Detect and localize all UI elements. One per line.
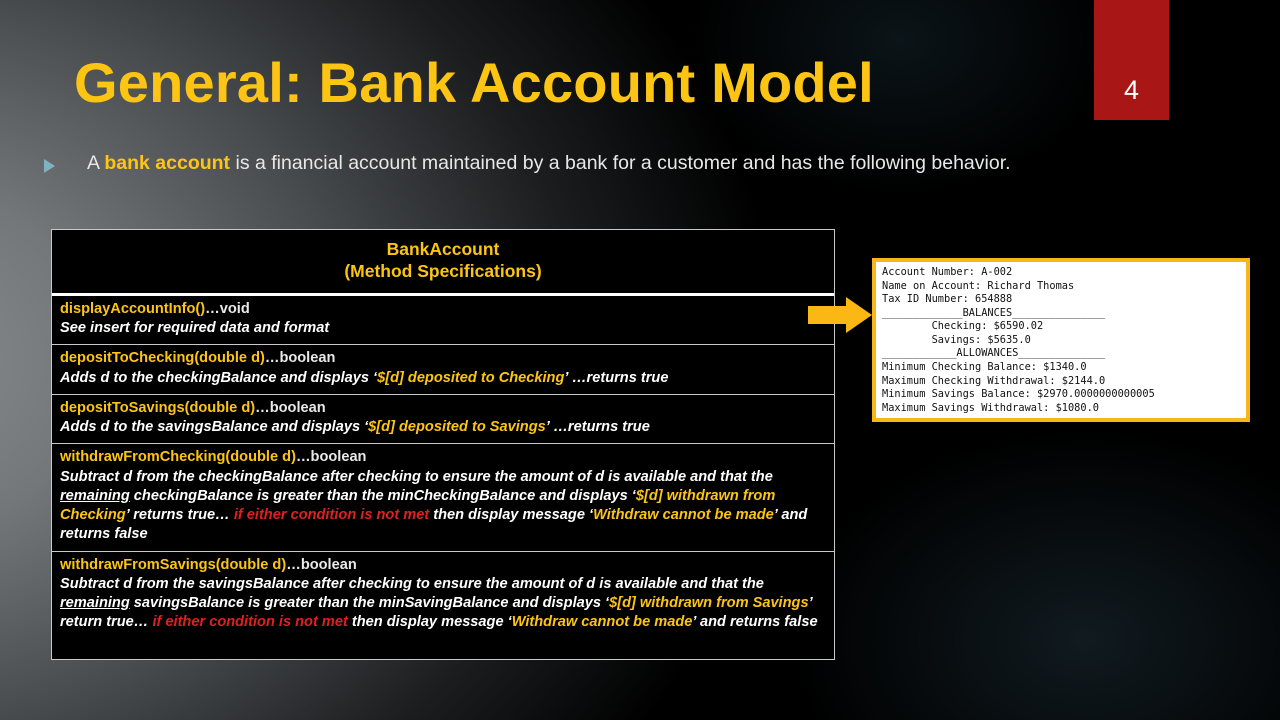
method-description: Adds d to the savingsBalance and display… xyxy=(60,418,826,437)
description-segment: if either condition is not met xyxy=(234,507,429,523)
method-description: Subtract d from the checkingBalance afte… xyxy=(60,468,826,545)
table-body: displayAccountInfo()…voidSee insert for … xyxy=(52,296,834,659)
table-header: BankAccount (Method Specifications) xyxy=(52,230,834,296)
description-segment: $[d] deposited to Checking xyxy=(377,370,564,386)
description-segment: savingsBalance is greater than the minSa… xyxy=(130,595,609,611)
description-segment: remaining xyxy=(60,488,130,504)
arrow-right-icon xyxy=(808,297,872,333)
triangle-right-bullet-icon xyxy=(44,159,55,173)
table-row: withdrawFromChecking(double d)…booleanSu… xyxy=(52,444,834,551)
description-segment: ’ …returns true xyxy=(546,419,650,435)
page-title: General: Bank Account Model xyxy=(74,50,874,115)
intro-bullet-text: A bank account is a financial account ma… xyxy=(87,152,1011,175)
description-segment: $[d] deposited to Savings xyxy=(368,419,546,435)
description-segment: checkingBalance is greater than the minC… xyxy=(130,488,636,504)
method-signature: displayAccountInfo()…void xyxy=(60,300,826,319)
description-segment: ’ …returns true xyxy=(564,370,668,386)
slide-number-badge: 4 xyxy=(1094,0,1169,120)
slide-number: 4 xyxy=(1094,75,1169,106)
method-return-type: …boolean xyxy=(265,350,336,366)
method-return-type: …void xyxy=(205,301,250,317)
table-header-line2: (Method Specifications) xyxy=(58,260,828,282)
slide-canvas: General: Bank Account Model 4 A bank acc… xyxy=(0,0,1280,720)
table-header-line1: BankAccount xyxy=(58,238,828,260)
intro-prefix: A xyxy=(87,152,104,174)
method-return-type: …boolean xyxy=(296,449,367,465)
arrow-shaft xyxy=(808,306,848,324)
method-description: Subtract d from the savingsBalance after… xyxy=(60,575,826,633)
method-return-type: …boolean xyxy=(286,557,357,573)
table-row: displayAccountInfo()…voidSee insert for … xyxy=(52,296,834,346)
console-output-text: Account Number: A-002 Name on Account: R… xyxy=(882,266,1240,422)
method-name: displayAccountInfo() xyxy=(60,301,205,317)
description-segment: if either condition is not met xyxy=(152,614,347,630)
description-segment: Adds d to the savingsBalance and display… xyxy=(60,419,368,435)
description-segment: ’ returns true… xyxy=(126,507,234,523)
intro-bullet: A bank account is a financial account ma… xyxy=(44,152,1224,175)
method-signature: depositToChecking(double d)…boolean xyxy=(60,349,826,368)
method-description: See insert for required data and format xyxy=(60,319,826,338)
table-row: depositToSavings(double d)…booleanAdds d… xyxy=(52,395,834,445)
method-signature: withdrawFromChecking(double d)…boolean xyxy=(60,448,826,467)
table-row: withdrawFromSavings(double d)…booleanSub… xyxy=(52,552,834,659)
description-segment: then display message ‘ xyxy=(348,614,512,630)
method-return-type: …boolean xyxy=(255,400,326,416)
description-segment: remaining xyxy=(60,595,130,611)
arrow-head xyxy=(846,297,872,333)
method-specification-table: BankAccount (Method Specifications) disp… xyxy=(51,229,835,660)
description-segment: Withdraw cannot be made xyxy=(593,507,774,523)
method-description: Adds d to the checkingBalance and displa… xyxy=(60,369,826,388)
method-name: withdrawFromSavings(double d) xyxy=(60,557,286,573)
description-segment: Adds d to the checkingBalance and displa… xyxy=(60,370,377,386)
intro-suffix: is a financial account maintained by a b… xyxy=(230,152,1010,174)
table-row: depositToChecking(double d)…booleanAdds … xyxy=(52,345,834,395)
method-name: withdrawFromChecking(double d) xyxy=(60,449,296,465)
description-segment: Subtract d from the savingsBalance after… xyxy=(60,576,764,592)
description-segment: $[d] withdrawn from Savings xyxy=(609,595,808,611)
description-segment: Subtract d from the checkingBalance afte… xyxy=(60,469,773,485)
description-segment: See insert for required data and format xyxy=(60,320,329,336)
method-name: depositToSavings(double d) xyxy=(60,400,255,416)
method-signature: withdrawFromSavings(double d)…boolean xyxy=(60,556,826,575)
description-segment: then display message ‘ xyxy=(429,507,593,523)
method-signature: depositToSavings(double d)…boolean xyxy=(60,399,826,418)
description-segment: ’ and returns false xyxy=(692,614,817,630)
console-output-panel: Account Number: A-002 Name on Account: R… xyxy=(872,258,1250,422)
description-segment: Withdraw cannot be made xyxy=(512,614,693,630)
method-name: depositToChecking(double d) xyxy=(60,350,265,366)
intro-highlight: bank account xyxy=(104,152,230,174)
